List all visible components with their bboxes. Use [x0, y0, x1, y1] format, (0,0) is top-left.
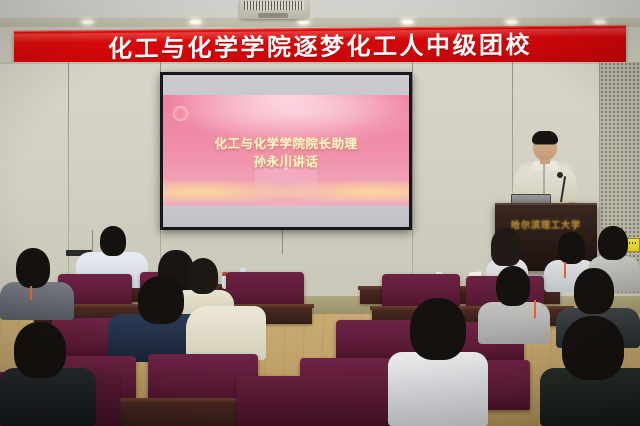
ceiling-downlight [594, 20, 605, 24]
attendee-cream-jacket [186, 286, 266, 360]
attendee-head [14, 322, 66, 378]
projection-screen-surface: 化工与化学学院院长助理 孙永川讲话 [163, 75, 409, 227]
attendee-glasses-left [0, 248, 74, 320]
attendee-foreground-left [0, 322, 96, 426]
ceiling-downlight [190, 20, 201, 24]
attendee-lanyard [30, 286, 32, 300]
attendee-top [478, 302, 550, 344]
attendee-head [16, 248, 50, 288]
attendee-foreground-center [388, 298, 488, 426]
slide-title-line-2: 孙永川讲话 [163, 153, 409, 171]
presentation-slide: 化工与化学学院院长助理 孙永川讲话 [163, 95, 409, 206]
screen-cable [282, 230, 283, 254]
attendee-head [138, 276, 184, 324]
screen-blank-area [163, 206, 409, 227]
speaker-glasses-icon [535, 144, 555, 149]
banner-text: 化工与化学学院逐梦化工人中级团校 [108, 33, 532, 61]
projector-lens-icon [258, 13, 288, 18]
attendee-head [100, 226, 126, 256]
lecture-hall-photo: 化工与化学学院逐梦化工人中级团校 化工与化学学院院长助理 孙永川讲话 [0, 0, 640, 426]
ceiling-downlight [506, 20, 517, 24]
ceiling-downlight [402, 20, 413, 24]
speaker-hair [532, 131, 558, 144]
ceiling-downlight [82, 20, 93, 24]
attendee-head [574, 268, 614, 314]
slide-title-block: 化工与化学学院院长助理 孙永川讲话 [163, 135, 409, 171]
wall-trim-line [0, 62, 640, 64]
attendee-top [186, 306, 266, 360]
attendee-head [496, 266, 530, 306]
projector-label [244, 1, 304, 10]
attendee-foreground-right [548, 316, 640, 426]
attendee-head [598, 226, 628, 260]
attendee-head [558, 232, 585, 264]
attendee-lanyard [534, 300, 536, 318]
ceiling-projector [240, 0, 308, 19]
attendee-right-grey-tee [478, 266, 550, 344]
projection-screen: 化工与化学学院院长助理 孙永川讲话 [160, 72, 412, 230]
attendee-head [491, 228, 521, 266]
attendee-head [562, 316, 624, 380]
slide-gold-ribbon [163, 181, 409, 201]
ceiling-downlight [298, 20, 309, 24]
slide-title-line-1: 化工与化学学院院长助理 [163, 135, 409, 153]
podium-microphone-head-icon [557, 172, 563, 178]
attendee-top [388, 352, 488, 426]
attendee-head [410, 298, 466, 360]
